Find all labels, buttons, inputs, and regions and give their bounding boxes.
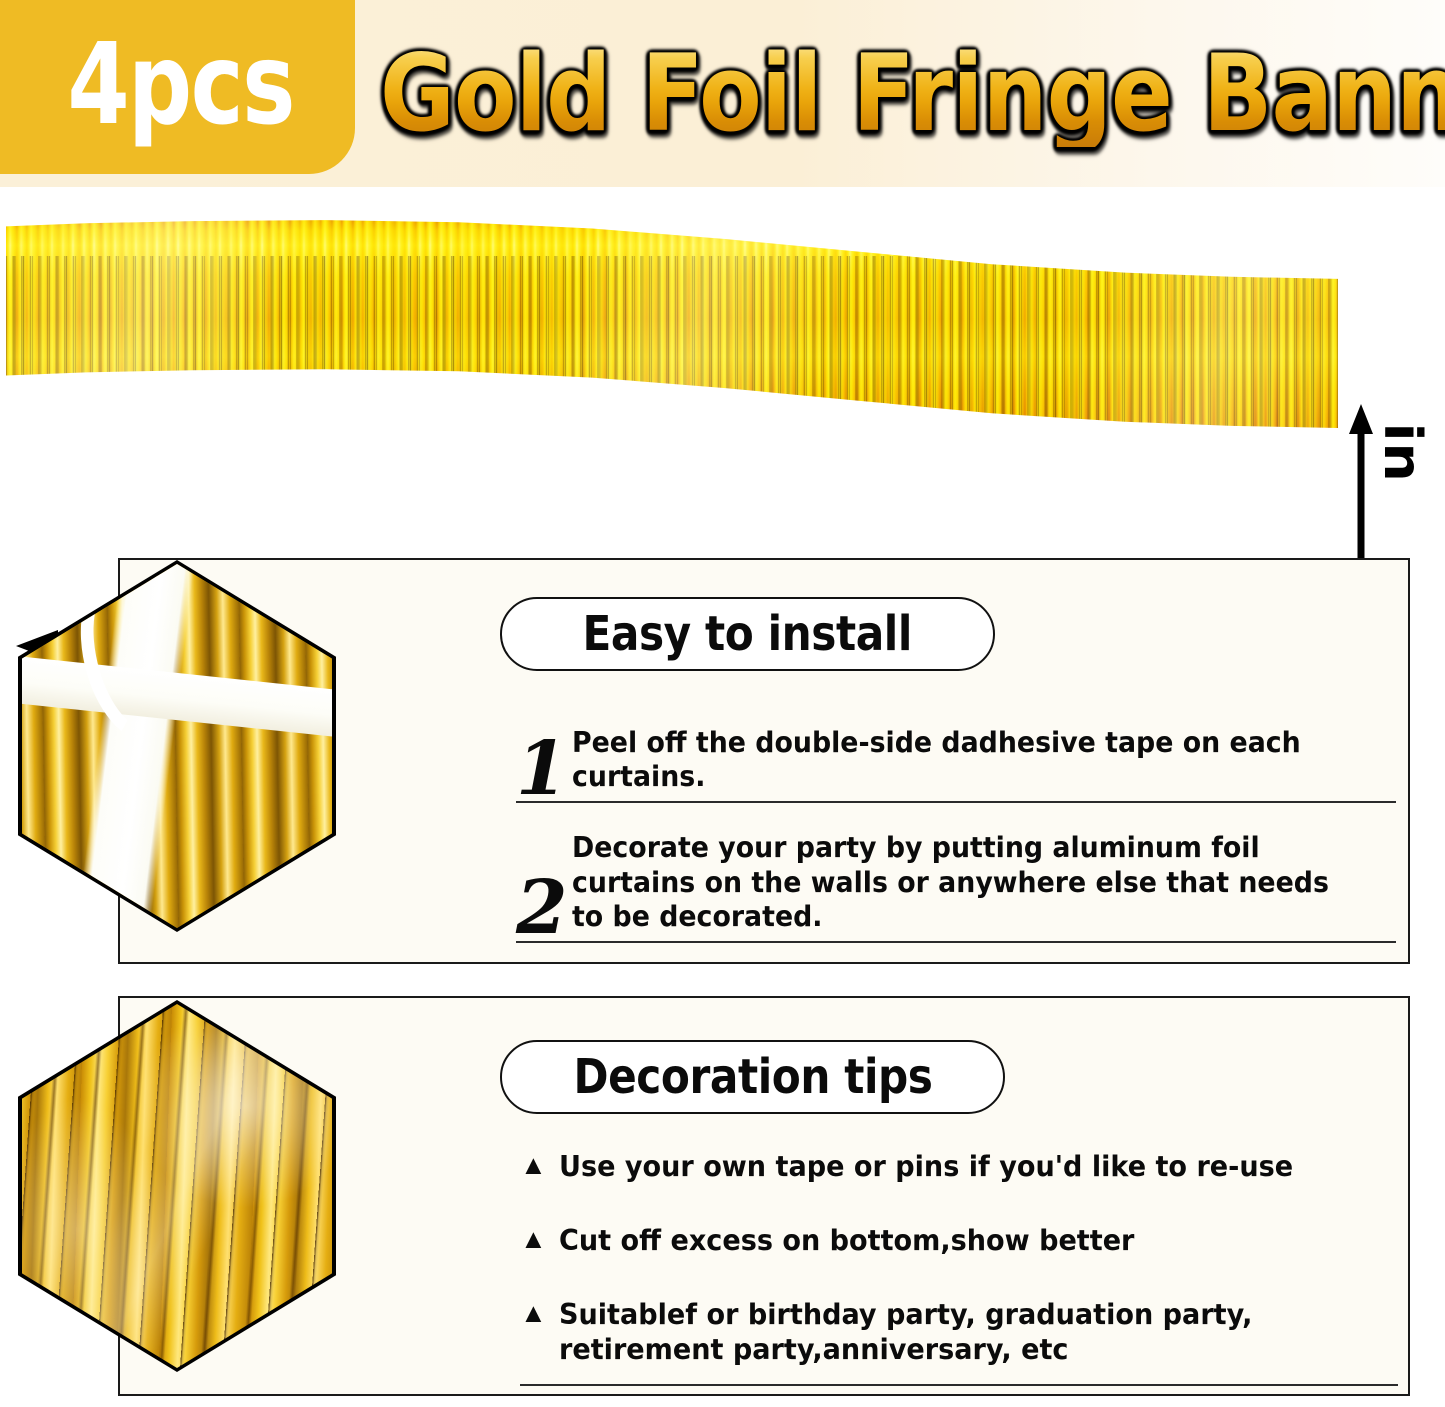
height-dimension-label: 12 in [1372,423,1445,544]
install-steps-list: 1 Peel off the double-side dadhesive tap… [516,726,1396,943]
install-heading-label: Easy to install [583,606,912,662]
install-heading-pill: Easy to install [500,597,995,671]
triangle-bullet-icon: ▲ [520,1298,559,1329]
install-step: 1 Peel off the double-side dadhesive tap… [516,726,1396,803]
tip-item: ▲ Cut off excess on bottom,show better [520,1224,1410,1258]
header-banner: 4pcs Gold Foil Fringe Banner [0,0,1445,187]
page-title: Gold Foil Fringe Banner [380,41,1445,147]
quantity-badge: 4pcs [0,0,355,174]
tips-heading-label: Decoration tips [573,1049,932,1105]
triangle-bullet-icon: ▲ [520,1224,559,1255]
product-diagram: 12 in 10 ft [0,190,1445,540]
tip-item: ▲ Suitablef or birthday party, graduatio… [520,1298,1410,1366]
tips-bottom-rule [520,1384,1398,1386]
hexagon-photo-clip [22,1004,332,1368]
fringe-shine-overlay [6,218,1338,428]
tips-heading-pill: Decoration tips [500,1040,1005,1114]
quantity-badge-label: 4pcs [67,29,294,141]
fringe-gloss-overlay [22,1004,332,1368]
tip-text: Cut off excess on bottom,show better [559,1224,1368,1258]
tip-text: Use your own tape or pins if you'd like … [559,1150,1368,1184]
step-number: 2 [516,880,572,938]
step-text: Peel off the double-side dadhesive tape … [572,726,1347,794]
tip-text: Suitablef or birthday party, graduation … [559,1298,1368,1366]
foil-surface [22,564,332,928]
hexagon-photo-clip [22,564,332,928]
product-title-container: Gold Foil Fringe Banner [380,24,1440,164]
gold-fringe-strands-closeup-photo [18,1000,336,1372]
tips-bullet-list: ▲ Use your own tape or pins if you'd lik… [520,1150,1410,1407]
triangle-bullet-icon: ▲ [520,1150,559,1181]
install-step: 2 Decorate your party by putting aluminu… [516,831,1396,943]
tip-item: ▲ Use your own tape or pins if you'd lik… [520,1150,1410,1184]
step-number: 1 [516,741,572,799]
step-text: Decorate your party by putting aluminum … [572,831,1347,934]
gold-foil-fringe-banner-photo [6,218,1338,428]
adhesive-tape-closeup-photo [18,560,336,932]
